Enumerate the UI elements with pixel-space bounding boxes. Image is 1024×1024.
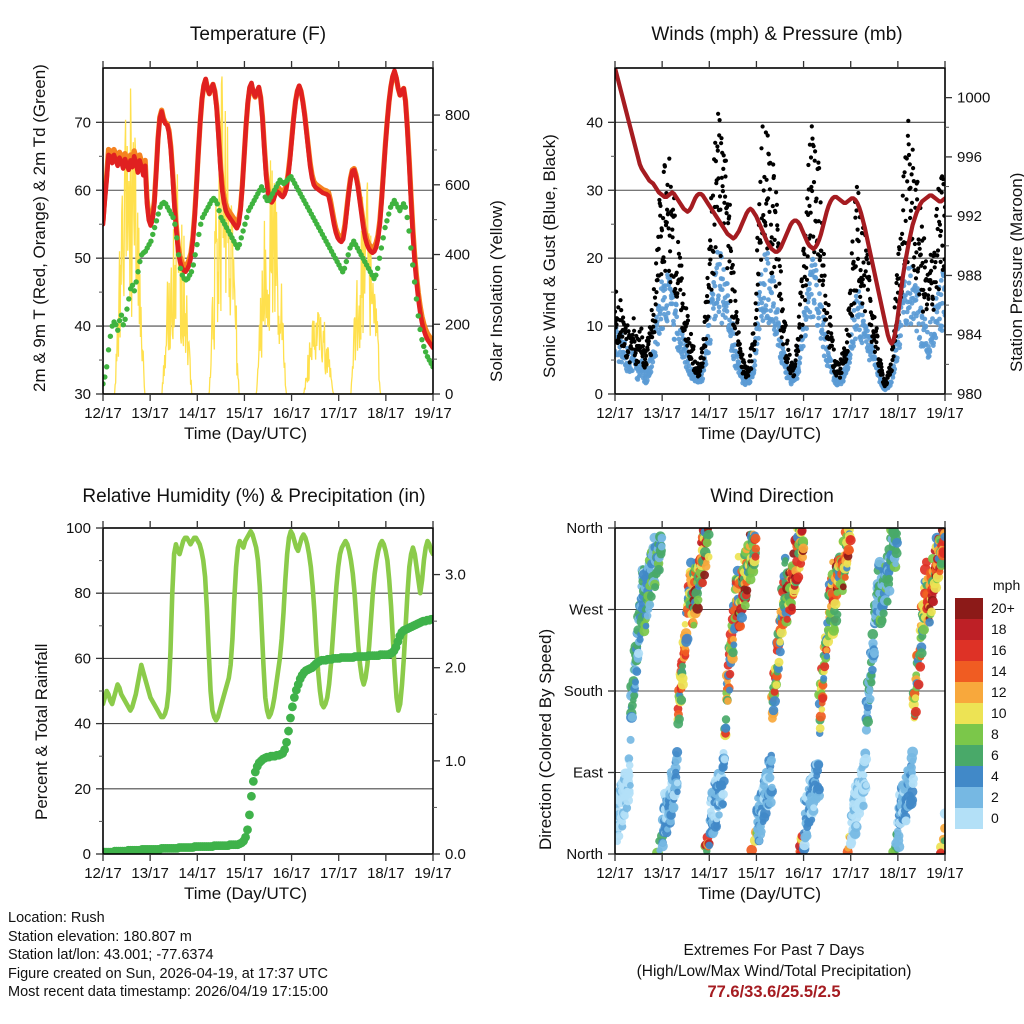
svg-text:30: 30 <box>74 386 91 403</box>
winds-pressure-chart: 010203040980984988992996100012/1713/1714… <box>512 0 1024 420</box>
svg-text:19/17: 19/17 <box>414 865 452 882</box>
svg-text:13/17: 13/17 <box>643 865 681 882</box>
svg-text:40: 40 <box>74 716 91 733</box>
weather-dashboard: Temperature (F) 2m & 9m T (Red, Orange) … <box>0 0 1024 1024</box>
svg-text:14: 14 <box>991 663 1007 679</box>
svg-text:70: 70 <box>74 114 91 131</box>
svg-text:19/17: 19/17 <box>926 865 964 882</box>
svg-text:19/17: 19/17 <box>926 405 964 422</box>
svg-text:mph: mph <box>993 577 1020 593</box>
svg-text:20+: 20+ <box>991 600 1015 616</box>
svg-text:0.0: 0.0 <box>445 846 466 863</box>
svg-text:1.0: 1.0 <box>445 753 466 770</box>
svg-text:14/17: 14/17 <box>179 405 217 422</box>
svg-text:18/17: 18/17 <box>367 865 405 882</box>
svg-text:15/17: 15/17 <box>738 405 776 422</box>
svg-text:60: 60 <box>74 650 91 667</box>
svg-text:20: 20 <box>74 781 91 798</box>
temperature-panel: Temperature (F) 2m & 9m T (Red, Orange) … <box>0 0 512 460</box>
svg-text:10: 10 <box>991 705 1007 721</box>
temperature-xlabel: Time (Day/UTC) <box>184 424 307 444</box>
svg-text:80: 80 <box>74 585 91 602</box>
svg-text:200: 200 <box>445 316 470 333</box>
svg-text:0: 0 <box>445 386 453 403</box>
svg-text:2: 2 <box>991 789 999 805</box>
svg-text:40: 40 <box>74 318 91 335</box>
svg-text:12: 12 <box>991 684 1007 700</box>
svg-text:0: 0 <box>83 846 91 863</box>
svg-text:17/17: 17/17 <box>320 405 358 422</box>
svg-text:17/17: 17/17 <box>832 405 870 422</box>
svg-text:980: 980 <box>957 386 982 403</box>
extremes-subtitle: (High/Low/Max Wind/Total Precipitation) <box>574 961 974 982</box>
svg-text:12/17: 12/17 <box>84 405 122 422</box>
temperature-chart: 3040506070020040060080012/1713/1714/1715… <box>0 0 512 420</box>
station-info-line: Most recent data timestamp: 2026/04/19 1… <box>8 983 328 1002</box>
svg-text:East: East <box>573 765 604 782</box>
svg-text:15/17: 15/17 <box>226 405 264 422</box>
station-info: Location: Rush Station elevation: 180.80… <box>8 909 328 1002</box>
svg-text:13/17: 13/17 <box>131 865 169 882</box>
svg-text:2.0: 2.0 <box>445 660 466 677</box>
winds-pressure-panel: Winds (mph) & Pressure (mb) Sonic Wind &… <box>512 0 1024 460</box>
svg-text:0: 0 <box>991 810 999 826</box>
winds-xlabel: Time (Day/UTC) <box>698 424 821 444</box>
station-info-line: Location: Rush <box>8 909 328 928</box>
svg-text:30: 30 <box>586 182 603 199</box>
extremes-summary: Extremes For Past 7 Days (High/Low/Max W… <box>574 940 974 1003</box>
svg-text:17/17: 17/17 <box>320 865 358 882</box>
svg-text:1000: 1000 <box>957 90 990 107</box>
extremes-value: 77.6/33.6/25.5/2.5 <box>574 982 974 1003</box>
svg-text:50: 50 <box>74 250 91 267</box>
svg-text:18/17: 18/17 <box>879 405 917 422</box>
svg-text:10: 10 <box>586 318 603 335</box>
svg-text:600: 600 <box>445 177 470 194</box>
humidity-precip-chart: 0204060801000.01.02.03.012/1713/1714/171… <box>0 460 512 880</box>
svg-text:20: 20 <box>586 250 603 267</box>
station-info-line: Station lat/lon: 43.001; -77.6374 <box>8 946 328 965</box>
wind-direction-xlabel: Time (Day/UTC) <box>698 884 821 904</box>
svg-text:15/17: 15/17 <box>738 865 776 882</box>
humidity-xlabel: Time (Day/UTC) <box>184 884 307 904</box>
svg-text:100: 100 <box>66 520 91 537</box>
svg-text:15/17: 15/17 <box>226 865 264 882</box>
wind-direction-chart: NorthWestSouthEastNorth12/1713/1714/1715… <box>512 460 1024 880</box>
svg-text:0: 0 <box>595 386 603 403</box>
svg-text:14/17: 14/17 <box>691 865 729 882</box>
svg-text:North: North <box>566 520 603 537</box>
humidity-precip-panel: Relative Humidity (%) & Precipitation (i… <box>0 460 512 920</box>
svg-text:West: West <box>569 602 604 619</box>
svg-text:13/17: 13/17 <box>131 405 169 422</box>
svg-text:4: 4 <box>991 768 999 784</box>
svg-text:6: 6 <box>991 747 999 763</box>
svg-text:12/17: 12/17 <box>596 405 634 422</box>
svg-text:16: 16 <box>991 642 1007 658</box>
svg-text:14/17: 14/17 <box>179 865 217 882</box>
svg-text:18/17: 18/17 <box>879 865 917 882</box>
svg-text:992: 992 <box>957 208 982 225</box>
svg-text:18: 18 <box>991 621 1007 637</box>
svg-text:8: 8 <box>991 726 999 742</box>
svg-text:984: 984 <box>957 327 982 344</box>
svg-text:800: 800 <box>445 107 470 124</box>
svg-text:16/17: 16/17 <box>273 865 311 882</box>
svg-text:996: 996 <box>957 149 982 166</box>
svg-text:16/17: 16/17 <box>273 405 311 422</box>
svg-text:South: South <box>564 683 603 700</box>
svg-text:16/17: 16/17 <box>785 405 823 422</box>
svg-text:988: 988 <box>957 267 982 284</box>
svg-text:12/17: 12/17 <box>84 865 122 882</box>
svg-text:North: North <box>566 846 603 863</box>
station-info-line: Figure created on Sun, 2026-04-19, at 17… <box>8 965 328 984</box>
svg-text:3.0: 3.0 <box>445 567 466 584</box>
svg-text:13/17: 13/17 <box>643 405 681 422</box>
svg-text:40: 40 <box>586 114 603 131</box>
svg-text:60: 60 <box>74 182 91 199</box>
svg-text:12/17: 12/17 <box>596 865 634 882</box>
svg-text:17/17: 17/17 <box>832 865 870 882</box>
wind-direction-panel: Wind Direction Direction (Colored By Spe… <box>512 460 1024 920</box>
svg-text:19/17: 19/17 <box>414 405 452 422</box>
svg-text:400: 400 <box>445 247 470 264</box>
svg-text:16/17: 16/17 <box>785 865 823 882</box>
svg-text:18/17: 18/17 <box>367 405 405 422</box>
svg-text:14/17: 14/17 <box>691 405 729 422</box>
station-info-line: Station elevation: 180.807 m <box>8 928 328 947</box>
extremes-title: Extremes For Past 7 Days <box>574 940 974 961</box>
